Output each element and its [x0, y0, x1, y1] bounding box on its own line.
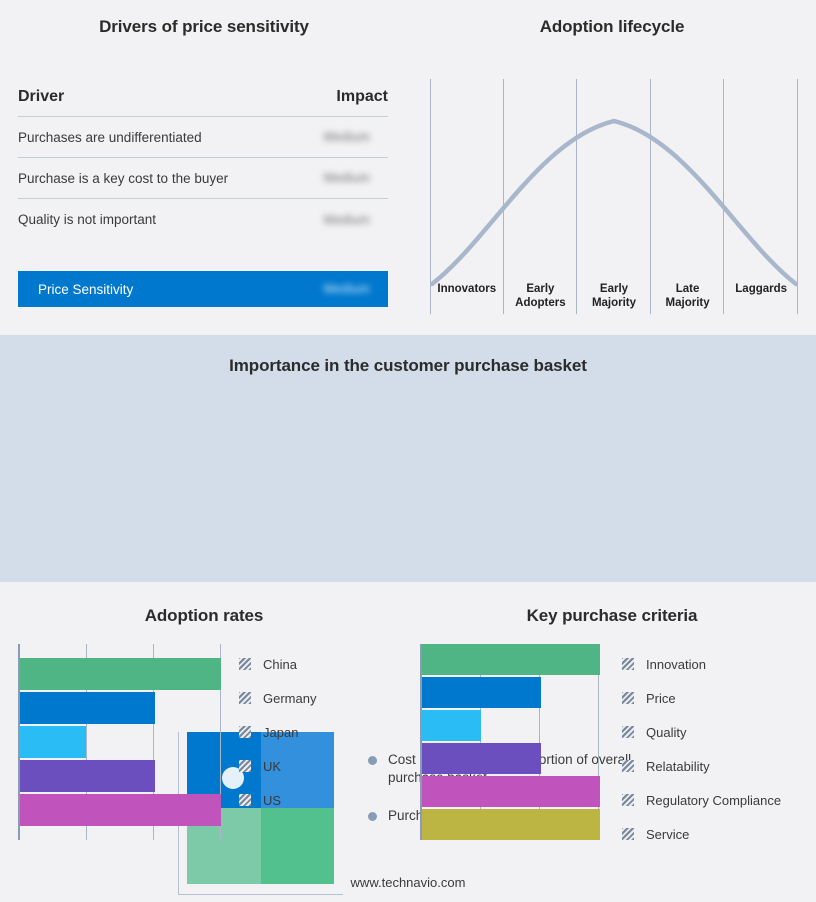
lifecycle-stage-labels: Innovators Early Adopters Early Majority…	[430, 283, 798, 313]
lifecycle-stage-late-majority: Late Majority	[651, 283, 725, 313]
infographic-page: Drivers of price sensitivity Driver Impa…	[0, 0, 816, 902]
lifecycle-title: Adoption lifecycle	[408, 17, 816, 37]
hatch-swatch-icon	[239, 726, 251, 738]
matrix-x-axis	[178, 894, 343, 895]
lifecycle-stage-early-adopters: Early Adopters	[504, 283, 578, 313]
bar-uk	[20, 760, 155, 792]
legend-label: Germany	[263, 691, 316, 706]
legend-label: China	[263, 657, 297, 672]
bar-row	[20, 692, 221, 724]
legend-item: Innovation	[622, 648, 781, 680]
bar-row	[20, 760, 221, 792]
adoption-bell-curve	[430, 79, 798, 314]
bar-regulatory-compliance	[422, 776, 600, 807]
hatch-swatch-icon	[622, 760, 634, 772]
lifecycle-chart: Innovators Early Adopters Early Majority…	[430, 79, 798, 314]
key-purchase-criteria-panel: Key purchase criteria InnovationPriceQua…	[408, 582, 816, 872]
legend-label: Relatability	[646, 759, 710, 774]
driver-name: Purchase is a key cost to the buyer	[18, 171, 228, 186]
key-purchase-criteria-legend: InnovationPriceQualityRelatabilityRegula…	[622, 644, 781, 850]
legend-item: US	[239, 784, 316, 816]
key-purchase-criteria-plot	[420, 644, 600, 840]
driver-name: Quality is not important	[18, 212, 156, 227]
impact-value: Medium	[324, 213, 388, 227]
legend-label: US	[263, 793, 281, 808]
legend-item: Regulatory Compliance	[622, 784, 781, 816]
key-purchase-criteria-title: Key purchase criteria	[408, 606, 816, 626]
hatch-swatch-icon	[622, 658, 634, 670]
bar-us	[20, 794, 221, 826]
adoption-rates-plot	[18, 644, 221, 840]
price-sensitivity-summary-row: Price Sensitivity Medium	[18, 271, 388, 307]
legend-item: Price	[622, 682, 781, 714]
hatch-swatch-icon	[622, 828, 634, 840]
summary-label: Price Sensitivity	[38, 282, 133, 297]
bar-row	[20, 794, 221, 826]
bar-row	[422, 743, 600, 774]
column-header-driver: Driver	[18, 88, 64, 106]
hatch-swatch-icon	[239, 794, 251, 806]
bar-row	[422, 677, 600, 708]
bar-row	[422, 710, 600, 741]
adoption-rates-chart: ChinaGermanyJapanUKUS	[0, 644, 408, 840]
adoption-rates-title: Adoption rates	[0, 606, 408, 626]
lifecycle-stage-laggards: Laggards	[724, 283, 798, 313]
hatch-swatch-icon	[622, 794, 634, 806]
bar-row	[20, 726, 221, 758]
impact-value: Medium	[324, 130, 388, 144]
legend-label: Service	[646, 827, 689, 842]
bar-quality	[422, 710, 481, 741]
summary-impact-value: Medium	[324, 282, 388, 296]
bar-row	[20, 658, 221, 690]
drivers-panel: Drivers of price sensitivity Driver Impa…	[0, 0, 408, 335]
adoption-rates-legend: ChinaGermanyJapanUKUS	[239, 644, 316, 840]
hatch-swatch-icon	[239, 760, 251, 772]
legend-label: Quality	[646, 725, 686, 740]
bar-row	[422, 644, 600, 675]
legend-label: UK	[263, 759, 281, 774]
bar-innovation	[422, 644, 600, 675]
legend-label: Japan	[263, 725, 298, 740]
bar-relatability	[422, 743, 541, 774]
adoption-rates-bars	[20, 644, 221, 840]
table-row: Purchase is a key cost to the buyer Medi…	[18, 158, 388, 199]
legend-item: Japan	[239, 716, 316, 748]
footer-url: www.technavio.com	[0, 875, 816, 890]
hatch-swatch-icon	[239, 658, 251, 670]
column-header-impact: Impact	[336, 88, 388, 106]
adoption-rates-panel: Adoption rates ChinaGermanyJapanUKUS	[0, 582, 408, 872]
hatch-swatch-icon	[622, 726, 634, 738]
drivers-table: Driver Impact Purchases are undifferenti…	[18, 88, 388, 240]
adoption-lifecycle-panel: Adoption lifecycle Innovators Early A	[408, 0, 816, 335]
legend-item: Quality	[622, 716, 781, 748]
bar-row	[422, 809, 600, 840]
bar-japan	[20, 726, 86, 758]
drivers-title: Drivers of price sensitivity	[0, 17, 408, 37]
bar-row	[422, 776, 600, 807]
legend-label: Regulatory Compliance	[646, 793, 781, 808]
legend-label: Price	[646, 691, 676, 706]
basket-title: Importance in the customer purchase bask…	[0, 356, 816, 376]
bar-price	[422, 677, 541, 708]
legend-item: Relatability	[622, 750, 781, 782]
purchase-basket-panel: Importance in the customer purchase bask…	[0, 335, 816, 582]
key-purchase-criteria-bars	[422, 644, 600, 840]
bar-service	[422, 809, 600, 840]
legend-item: Service	[622, 818, 781, 850]
legend-label: Innovation	[646, 657, 706, 672]
driver-name: Purchases are undifferentiated	[18, 130, 202, 145]
key-purchase-criteria-chart: InnovationPriceQualityRelatabilityRegula…	[408, 644, 816, 850]
hatch-swatch-icon	[622, 692, 634, 704]
legend-item: UK	[239, 750, 316, 782]
lifecycle-stage-innovators: Innovators	[430, 283, 504, 313]
bar-germany	[20, 692, 155, 724]
hatch-swatch-icon	[239, 692, 251, 704]
lifecycle-stage-early-majority: Early Majority	[577, 283, 651, 313]
legend-item: Germany	[239, 682, 316, 714]
bar-china	[20, 658, 221, 690]
impact-value: Medium	[324, 171, 388, 185]
legend-item: China	[239, 648, 316, 680]
table-row: Quality is not important Medium	[18, 199, 388, 240]
table-row: Purchases are undifferentiated Medium	[18, 117, 388, 158]
drivers-table-header: Driver Impact	[18, 88, 388, 117]
